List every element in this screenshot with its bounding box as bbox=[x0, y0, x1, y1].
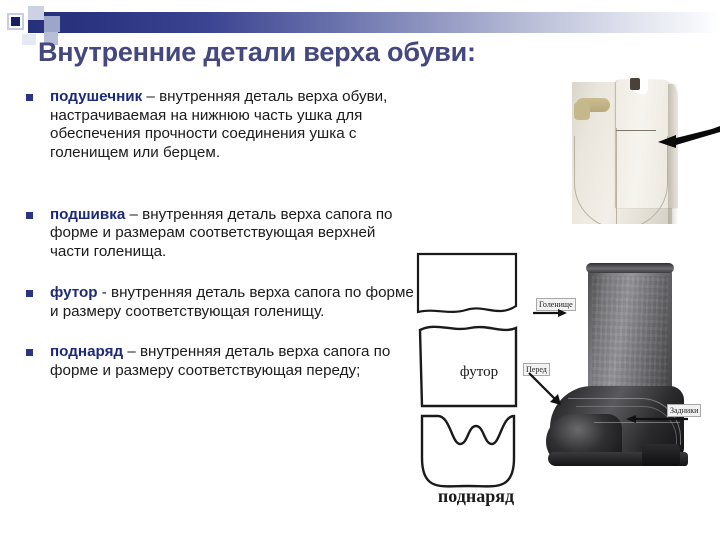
bullet-term: подушечник bbox=[50, 88, 142, 105]
banner-gradient-bar bbox=[28, 12, 720, 33]
pattern-shape-podshivka bbox=[418, 254, 516, 312]
callout-arrow-pered-icon bbox=[528, 372, 562, 406]
page-title: Внутренние детали верха обуви: bbox=[38, 38, 698, 68]
pattern-diagram: футор поднаряд bbox=[412, 248, 542, 528]
bullet-term: поднаряд bbox=[50, 343, 123, 360]
boot-upper-edge-step bbox=[616, 130, 656, 131]
bullet-dash: – bbox=[125, 206, 142, 223]
callout-arrow-golenishche-icon bbox=[533, 308, 567, 318]
bullet-dash: – bbox=[123, 343, 140, 360]
boot-shaft-top-edge bbox=[586, 263, 674, 273]
bullet-dash: – bbox=[142, 88, 159, 105]
list-item: подшивка – внутренняя деталь верха сапог… bbox=[22, 206, 414, 262]
pattern-shape-podnaryad bbox=[422, 416, 514, 486]
list-item: поднаряд – внутренняя деталь верха сапог… bbox=[22, 343, 414, 380]
pattern-label-podnaryad: поднаряд bbox=[406, 486, 546, 507]
boot-upper-seam-vertical bbox=[616, 128, 617, 224]
boot-upper-shadow bbox=[668, 84, 678, 224]
callout-arrow-zadniki-icon bbox=[626, 414, 688, 424]
banner-solid-square bbox=[11, 17, 20, 26]
boot-upper-tan-patch-secondary bbox=[574, 102, 590, 120]
list-item: подушечник – внутренняя деталь верха обу… bbox=[22, 88, 414, 163]
bullet-dash: - bbox=[98, 284, 112, 301]
bullet-term: подшивка bbox=[50, 206, 125, 223]
list-item: футор - внутренняя деталь верха сапога п… bbox=[22, 284, 414, 321]
bullet-square-icon bbox=[26, 290, 33, 297]
pattern-label-futor: футор bbox=[434, 364, 524, 381]
banner-block-a bbox=[28, 6, 44, 20]
bullet-list: подушечник – внутренняя деталь верха обу… bbox=[22, 88, 414, 381]
bullet-square-icon bbox=[26, 349, 33, 356]
boot-upper-seam-u bbox=[574, 136, 668, 224]
banner-block-b bbox=[44, 16, 60, 32]
photo-boot-upper-detail bbox=[572, 76, 720, 224]
photo-black-boot bbox=[546, 246, 720, 498]
boot-heel bbox=[642, 444, 680, 466]
bullet-term: футор bbox=[50, 284, 98, 301]
pointer-arrow-icon bbox=[656, 124, 720, 150]
bullet-square-icon bbox=[26, 212, 33, 219]
boot-upper-dark-tab bbox=[630, 78, 640, 90]
banner-block-d bbox=[22, 34, 36, 45]
bullet-square-icon bbox=[26, 94, 33, 101]
